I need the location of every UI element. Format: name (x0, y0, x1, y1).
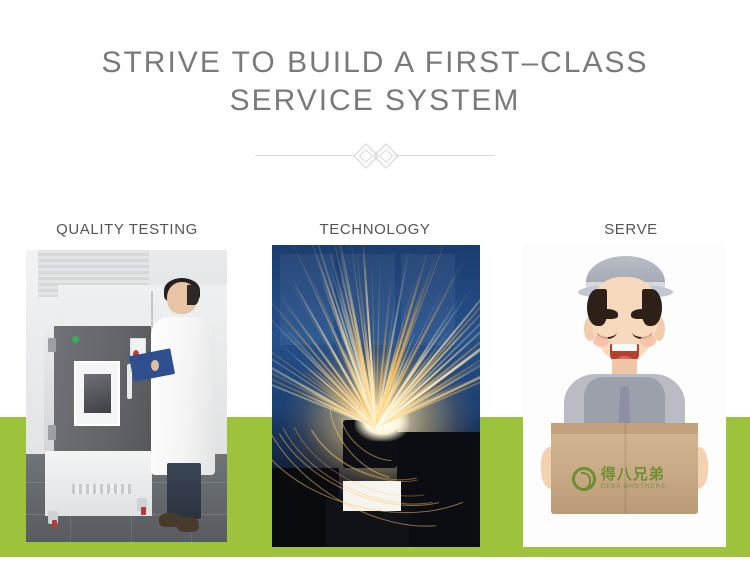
box-brand-logo: 得八兄弟 DEBA BROTHERS (572, 462, 686, 495)
box-logo-english: DEBA BROTHERS (601, 484, 666, 490)
welding-photo (272, 245, 480, 547)
deba-brothers-mark-icon (572, 467, 596, 491)
promo-banner: STRIVE TO BUILD A FIRST–CLASS SERVICE SY… (0, 0, 750, 574)
page-title: STRIVE TO BUILD A FIRST–CLASS SERVICE SY… (0, 44, 750, 120)
divider-rule-right (395, 155, 495, 156)
column-label-serve: SERVE (506, 221, 750, 238)
image-card-quality-testing (26, 250, 227, 542)
divider-rule-left (255, 155, 355, 156)
column-label-technology: TECHNOLOGY (250, 221, 500, 238)
column-label-quality-testing: QUALITY TESTING (2, 221, 252, 238)
diamond-divider (255, 142, 495, 168)
box-logo-chinese: 得八兄弟 (601, 467, 666, 482)
image-card-serve: 得八兄弟 DEBA BROTHERS (523, 244, 726, 547)
lab-photo (26, 250, 227, 542)
delivery-man-illustration: 得八兄弟 DEBA BROTHERS (523, 244, 726, 547)
image-card-technology (272, 245, 480, 547)
